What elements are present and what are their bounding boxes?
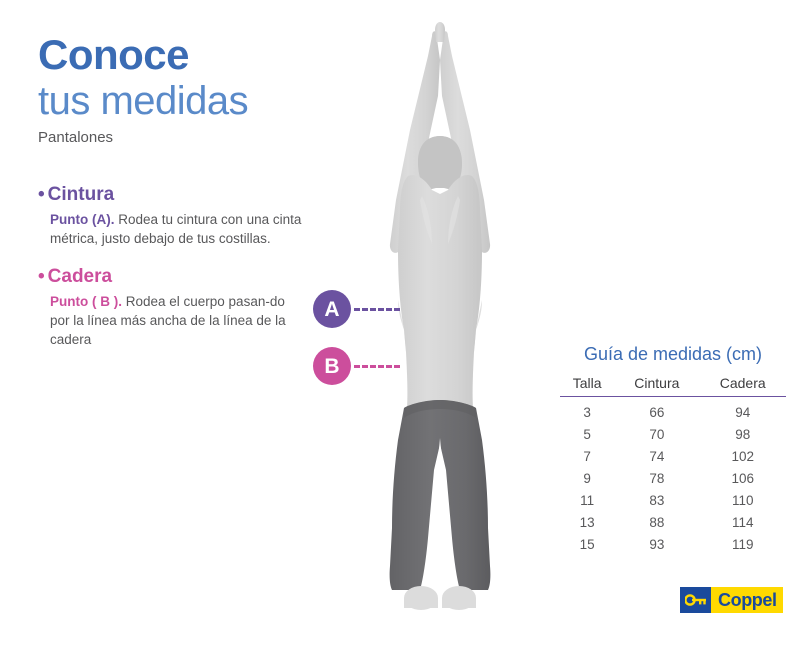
hip-leader-line: [354, 365, 400, 368]
table-cell: 110: [699, 490, 786, 512]
page-title-primary: Conoce: [38, 34, 338, 76]
waist-marker-circle: A: [313, 290, 351, 328]
table-cell: 9: [560, 468, 614, 490]
size-guide-table-body: 3669457098774102978106118311013881141593…: [560, 397, 786, 556]
table-cell: 93: [614, 534, 699, 556]
table-cell: 5: [560, 424, 614, 446]
figure-pants: [390, 400, 491, 590]
size-guide-table: Talla Cintura Cadera 3669457098774102978…: [560, 375, 786, 556]
table-row: 57098: [560, 424, 786, 446]
waist-point-label: Punto (A).: [50, 212, 114, 227]
measurement-instructions: •Cintura Punto (A). Rodea tu cintura con…: [38, 184, 306, 363]
table-cell: 83: [614, 490, 699, 512]
table-row: 978106: [560, 468, 786, 490]
hip-heading: •Cadera: [38, 266, 306, 289]
table-cell: 94: [699, 397, 786, 424]
size-guide-title: Guía de medidas (cm): [560, 344, 786, 365]
figure-torso: [398, 175, 482, 428]
page-title-secondary: tus medidas: [38, 80, 338, 123]
table-cell: 15: [560, 534, 614, 556]
coppel-logo: Coppel: [680, 587, 783, 613]
hip-point-label: Punto ( B ).: [50, 294, 122, 309]
table-cell: 3: [560, 397, 614, 424]
table-cell: 98: [699, 424, 786, 446]
figure-feet: [404, 586, 476, 610]
bullet-icon: •: [38, 266, 45, 289]
table-cell: 11: [560, 490, 614, 512]
table-row: 1593119: [560, 534, 786, 556]
column-header-talla: Talla: [560, 375, 614, 397]
measurement-section-hip: •Cadera Punto ( B ). Rodea el cuerpo pas…: [38, 266, 306, 349]
table-cell: 66: [614, 397, 699, 424]
key-icon: [680, 587, 711, 613]
title-block: Conoce tus medidas Pantalones: [38, 34, 338, 146]
hip-callout-marker: B: [313, 347, 400, 385]
table-cell: 102: [699, 446, 786, 468]
table-cell: 70: [614, 424, 699, 446]
measurement-section-waist: •Cintura Punto (A). Rodea tu cintura con…: [38, 184, 306, 248]
column-header-cadera: Cadera: [699, 375, 786, 397]
table-row: 774102: [560, 446, 786, 468]
table-cell: 114: [699, 512, 786, 534]
waist-callout-marker: A: [313, 290, 400, 328]
page-subtitle: Pantalones: [38, 129, 338, 146]
waist-heading: •Cintura: [38, 184, 306, 207]
table-cell: 106: [699, 468, 786, 490]
table-row: 1183110: [560, 490, 786, 512]
table-row: 1388114: [560, 512, 786, 534]
table-header-row: Talla Cintura Cadera: [560, 375, 786, 397]
hip-heading-label: Cadera: [48, 266, 112, 287]
hip-marker-circle: B: [313, 347, 351, 385]
bullet-icon: •: [38, 184, 45, 207]
waist-heading-label: Cintura: [48, 184, 115, 205]
table-cell: 88: [614, 512, 699, 534]
brand-wordmark-plate: Coppel: [711, 587, 783, 613]
table-cell: 7: [560, 446, 614, 468]
table-row: 36694: [560, 397, 786, 424]
waist-leader-line: [354, 308, 400, 311]
table-cell: 13: [560, 512, 614, 534]
brand-wordmark: Coppel: [718, 591, 777, 609]
hip-description: Punto ( B ). Rodea el cuerpo pasan-do po…: [50, 292, 306, 349]
table-cell: 119: [699, 534, 786, 556]
table-cell: 74: [614, 446, 699, 468]
column-header-cintura: Cintura: [614, 375, 699, 397]
size-guide: Guía de medidas (cm) Talla Cintura Cader…: [560, 344, 786, 556]
table-cell: 78: [614, 468, 699, 490]
waist-description: Punto (A). Rodea tu cintura con una cint…: [50, 210, 306, 248]
